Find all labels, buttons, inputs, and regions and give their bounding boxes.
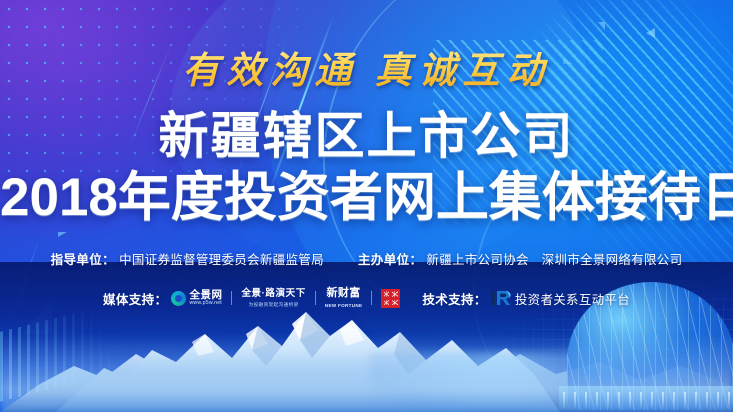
logo-roadshow[interactable]: 全景·路演天下 为投融资架起沟通桥梁 xyxy=(241,289,305,308)
seal-glyph xyxy=(391,290,399,298)
tech-support-value: 投资者关系互动平台 xyxy=(515,289,630,308)
media-support: 媒体支持： 全景网 www.p5w.net 全景·路演天下 为投融资架起沟通桥梁 xyxy=(103,288,400,308)
media-support-label: 媒体支持： xyxy=(103,289,168,308)
logo-p5w[interactable]: 全景网 www.p5w.net xyxy=(171,290,222,307)
p5w-swirl-icon xyxy=(171,291,186,306)
title-line-2: 2018年度投资者网上集体接待日 xyxy=(0,155,733,231)
banner-content: 有效沟通 真诚互动 新疆辖区上市公司 2018年度投资者网上集体接待日 指导单位… xyxy=(0,0,733,412)
credits-row-secondary: 媒体支持： 全景网 www.p5w.net 全景·路演天下 为投融资架起沟通桥梁 xyxy=(0,288,733,308)
media-logo-list: 全景网 www.p5w.net 全景·路演天下 为投融资架起沟通桥梁 新财富 N… xyxy=(171,288,400,308)
event-banner: 有效沟通 真诚互动 新疆辖区上市公司 2018年度投资者网上集体接待日 指导单位… xyxy=(0,0,733,412)
organizer-unit-value: 新疆上市公司协会 深圳市全景网络有限公司 xyxy=(426,249,682,268)
logo-divider xyxy=(371,291,372,305)
ir-letter-r xyxy=(496,290,511,306)
tech-support-label: 技术支持： xyxy=(422,289,487,308)
credits-row-primary: 指导单位： 中国证券监督管理委员会新疆监管局 主办单位： 新疆上市公司协会 深圳… xyxy=(0,249,733,268)
tech-support: 技术支持： 投资者关系互动平台 xyxy=(422,289,630,308)
logo-roadshow-name: 全景·路演天下 xyxy=(241,289,305,299)
logo-new-fortune-name: 新财富 xyxy=(326,288,360,299)
organizer-unit-label: 主办单位： xyxy=(358,249,423,268)
ir-logo-icon[interactable] xyxy=(491,290,511,306)
seal-glyph xyxy=(383,299,391,307)
seal-glyph xyxy=(391,299,399,307)
slogan-text: 有效沟通 真诚互动 xyxy=(0,40,733,94)
guidance-unit: 指导单位： 中国证券监督管理委员会新疆监管局 xyxy=(51,249,324,268)
ir-letter-i xyxy=(491,291,495,306)
logo-new-fortune[interactable]: 新财富 NEW FORTUNE xyxy=(325,288,363,308)
logo-red-seal[interactable] xyxy=(381,289,400,308)
logo-divider xyxy=(315,291,316,305)
logo-p5w-name: 全景网 xyxy=(189,290,222,301)
logo-divider xyxy=(231,291,232,305)
guidance-unit-value: 中国证券监督管理委员会新疆监管局 xyxy=(119,249,324,268)
logo-roadshow-tagline: 为投融资架起沟通桥梁 xyxy=(249,303,299,308)
organizer-unit: 主办单位： 新疆上市公司协会 深圳市全景网络有限公司 xyxy=(358,249,683,268)
seal-glyph xyxy=(383,290,391,298)
logo-p5w-url: www.p5w.net xyxy=(189,301,222,306)
logo-new-fortune-en: NEW FORTUNE xyxy=(325,304,363,309)
guidance-unit-label: 指导单位： xyxy=(51,249,116,268)
